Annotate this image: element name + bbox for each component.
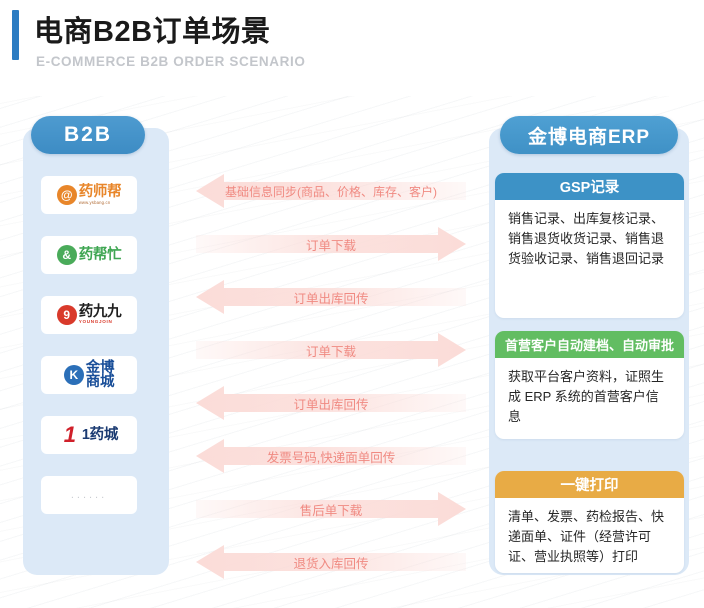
logo-sub: YOUNGJOIN [79, 320, 113, 325]
title-accent-bar [12, 10, 19, 60]
logo-name: 金博 [86, 361, 114, 376]
flow-arrow-1: 基础信息同步(商品、价格、库存、客户) [196, 174, 466, 208]
erp-card-body: 销售记录、出库复核记录、销售退货收货记录、销售退货验收记录、销售退回记录 [495, 200, 684, 279]
erp-pill-label: 金博电商ERP [528, 122, 650, 149]
erp-card-title: 一键打印 [495, 471, 684, 498]
erp-card-body: 获取平台客户资料，证照生成 ERP 系统的首营客户信息 [495, 358, 684, 437]
logo-name-line2: 商城 [86, 375, 114, 390]
logo-item-5[interactable]: 11药城 [41, 416, 137, 454]
erp-card-title: 首营客户自动建档、自动审批 [495, 331, 684, 358]
erp-card-title: GSP记录 [495, 173, 684, 200]
flow-arrow-label: 基础信息同步(商品、价格、库存、客户) [196, 174, 466, 208]
logo-item-2[interactable]: &药帮忙 [41, 236, 137, 274]
logo-mark-icon: @ [57, 185, 77, 205]
logo-name: 药九九 [79, 305, 122, 320]
logo-name: 1药城 [82, 428, 118, 443]
flow-arrow-6: 发票号码,快递面单回传 [196, 439, 466, 473]
flow-arrow-label: 发票号码,快递面单回传 [196, 439, 466, 473]
infographic-page: 电商B2B订单场景 E-COMMERCE B2B ORDER SCENARIO … [0, 0, 704, 608]
logo-name: 药帮忙 [79, 248, 122, 263]
logo-item-4[interactable]: K金博商城 [41, 356, 137, 394]
flow-arrow-3: 订单出库回传 [196, 280, 466, 314]
erp-pill: 金博电商ERP [500, 116, 678, 154]
flow-arrow-4: 订单下载 [196, 333, 466, 367]
flow-arrow-8: 退货入库回传 [196, 545, 466, 579]
flow-arrow-label: 售后单下载 [196, 492, 466, 526]
logo-item-1[interactable]: @药师帮www.ysbang.cn [41, 176, 137, 214]
logo-mark-icon: K [64, 365, 84, 385]
flow-arrow-7: 售后单下载 [196, 492, 466, 526]
page-title: 电商B2B订单场景 [34, 8, 271, 50]
erp-card-1[interactable]: GSP记录销售记录、出库复核记录、销售退货收货记录、销售退货验收记录、销售退回记… [495, 173, 684, 318]
logo-mark-icon: & [57, 245, 77, 265]
page-subtitle: E-COMMERCE B2B ORDER SCENARIO [36, 54, 305, 69]
flow-arrow-2: 订单下载 [196, 227, 466, 261]
flow-arrow-5: 订单出库回传 [196, 386, 466, 420]
erp-card-3[interactable]: 一键打印清单、发票、药检报告、快递面单、证件（经营许可证、营业执照等）打印 [495, 471, 684, 573]
logo-mark-icon: 1 [60, 425, 80, 445]
logo-name: 药师帮 [79, 185, 122, 200]
logo-item-3[interactable]: 9药九九YOUNGJOIN [41, 296, 137, 334]
logo-placeholder-dots: ...... [71, 489, 107, 501]
logo-mark-icon: 9 [57, 305, 77, 325]
b2b-pill: B2B [31, 116, 145, 154]
logo-item-6[interactable]: ...... [41, 476, 137, 514]
flow-arrow-label: 订单下载 [196, 333, 466, 367]
flow-arrow-label: 退货入库回传 [196, 545, 466, 579]
erp-card-2[interactable]: 首营客户自动建档、自动审批获取平台客户资料，证照生成 ERP 系统的首营客户信息 [495, 331, 684, 439]
erp-card-body: 清单、发票、药检报告、快递面单、证件（经营许可证、营业执照等）打印 [495, 498, 684, 573]
flow-arrow-label: 订单下载 [196, 227, 466, 261]
b2b-pill-label: B2B [64, 123, 112, 147]
logo-url: www.ysbang.cn [79, 201, 111, 205]
flow-arrow-label: 订单出库回传 [196, 280, 466, 314]
flow-arrow-label: 订单出库回传 [196, 386, 466, 420]
